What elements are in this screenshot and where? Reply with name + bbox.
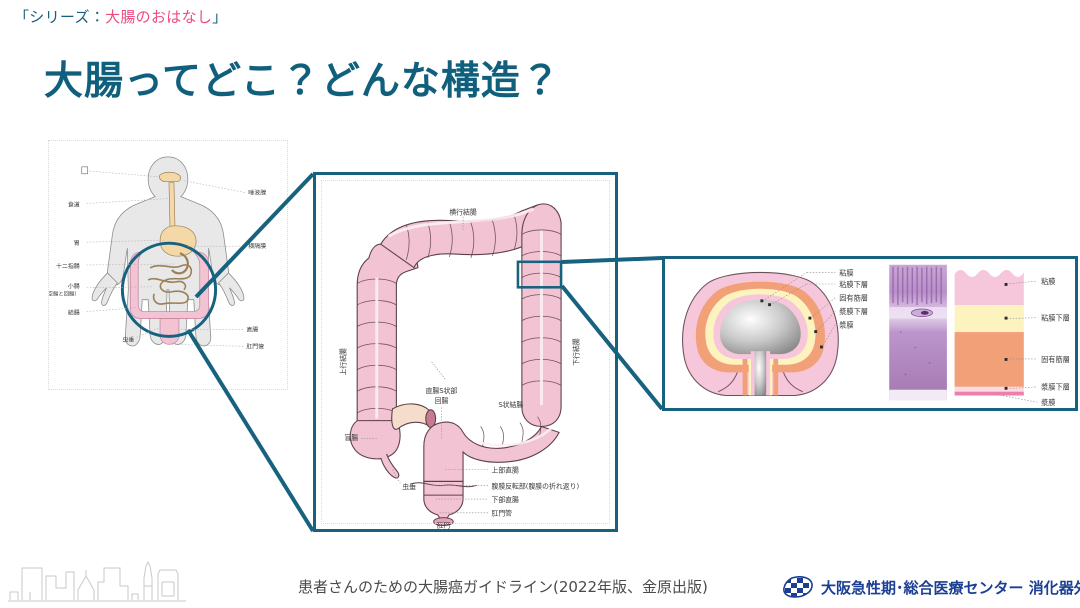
body-label-duodenum: 十二指腸 <box>56 262 80 270</box>
body-label-anal-canal: 肛門管 <box>246 342 264 350</box>
body-label-salivary: 唾液腺 <box>248 189 266 197</box>
colon-label-rectosigmoid: 直腸S状部 <box>426 386 458 395</box>
body-diagram-panel: 食道 胃 十二指腸 小腸 （空腸と回腸） 結腸 虫垂 唾液腺 横隔膜 直腸 肛門… <box>48 140 288 390</box>
wall-layers-panel: 粘膜 粘膜下層 固有筋層 漿膜下層 漿膜 <box>662 256 1078 411</box>
slide: 「シリーズ：大腸のおはなし」 大腸ってどこ？どんな構造？ <box>0 0 1080 608</box>
hospital-logo: 大阪急性期･総合医療センター 消化器外科 <box>783 576 1080 598</box>
body-label-diaphragm: 横隔膜 <box>248 242 266 250</box>
colon-label-peritoneal-reflection: 腹膜反転部(腹膜の折れ返り) <box>491 481 579 490</box>
layer-label-muscularis: 固有筋層 <box>1041 355 1070 364</box>
series-prefix: 「シリーズ： <box>14 8 105 26</box>
page-title: 大腸ってどこ？どんな構造？ <box>44 50 561 106</box>
mouth-marker <box>82 167 88 174</box>
series-accent: 大腸のおはなし <box>105 8 212 26</box>
colon-label-ascending: 上行結腸 <box>338 348 347 376</box>
colon-label-sigmoid: S状結腸 <box>498 400 523 409</box>
schematic-label-subserosa: 漿膜下層 <box>839 307 868 316</box>
wall-layers-diagram: 粘膜 粘膜下層 固有筋層 漿膜下層 漿膜 <box>665 259 1075 408</box>
layer-color-bars <box>955 270 1024 396</box>
colon-label-anal-canal: 肛門管 <box>491 509 512 518</box>
skyline-decoration <box>8 556 186 602</box>
series-suffix: 」 <box>212 8 227 26</box>
colon-label-cecum: 盲腸 <box>344 433 358 442</box>
colon-label-lower-rectum: 下部直腸 <box>491 495 519 504</box>
logo-text: 大阪急性期･総合医療センター 消化器外科 <box>821 577 1080 598</box>
layer-label-mucosa: 粘膜 <box>1041 277 1055 286</box>
body-label-appendix: 虫垂 <box>122 335 134 343</box>
colon-diagram-panel: 横行結腸 上行結腸 下行結腸 回腸 盲腸 虫垂 直腸S状部 S状結腸 上部直腸 … <box>313 172 618 532</box>
colon-label-transverse: 横行結腸 <box>449 208 477 217</box>
layer-label-submucosa: 粘膜下層 <box>1041 314 1070 323</box>
logo-mark-icon <box>783 576 813 598</box>
colon-diagram: 横行結腸 上行結腸 下行結腸 回腸 盲腸 虫垂 直腸S状部 S状結腸 上部直腸 … <box>316 175 615 529</box>
series-label: 「シリーズ：大腸のおはなし」 <box>14 6 227 27</box>
colon-label-appendix: 虫垂 <box>402 482 416 491</box>
body-label-stomach: 胃 <box>74 240 80 247</box>
schematic-label-muscularis: 固有筋層 <box>839 293 868 302</box>
colon-label-ileum: 回腸 <box>435 397 449 405</box>
layer-label-serosa: 漿膜 <box>1041 398 1055 407</box>
schematic-label-submucosa: 粘膜下層 <box>839 280 868 289</box>
schematic-label-serosa: 漿膜 <box>839 320 853 329</box>
layer-label-subserosa: 漿膜下層 <box>1041 383 1070 392</box>
body-label-colon: 結腸 <box>68 309 80 317</box>
histology-image <box>889 265 947 401</box>
body-label-small-intestine-sub: （空腸と回腸） <box>49 291 80 298</box>
schematic-label-mucosa: 粘膜 <box>839 268 853 277</box>
body-label-rectum: 直腸 <box>246 325 258 333</box>
colon-label-anus: 肛門 <box>437 521 451 529</box>
body-label-esophagus: 食道 <box>68 200 80 208</box>
citation-text: 患者さんのための大腸癌ガイドライン(2022年版、金原出版) <box>298 576 708 597</box>
body-diagram: 食道 胃 十二指腸 小腸 （空腸と回腸） 結腸 虫垂 唾液腺 横隔膜 直腸 肛門… <box>49 141 287 389</box>
body-label-small-intestine: 小腸 <box>68 282 80 290</box>
colon-label-descending: 下行結腸 <box>572 338 581 366</box>
colon-label-upper-rectum: 上部直腸 <box>491 466 519 475</box>
